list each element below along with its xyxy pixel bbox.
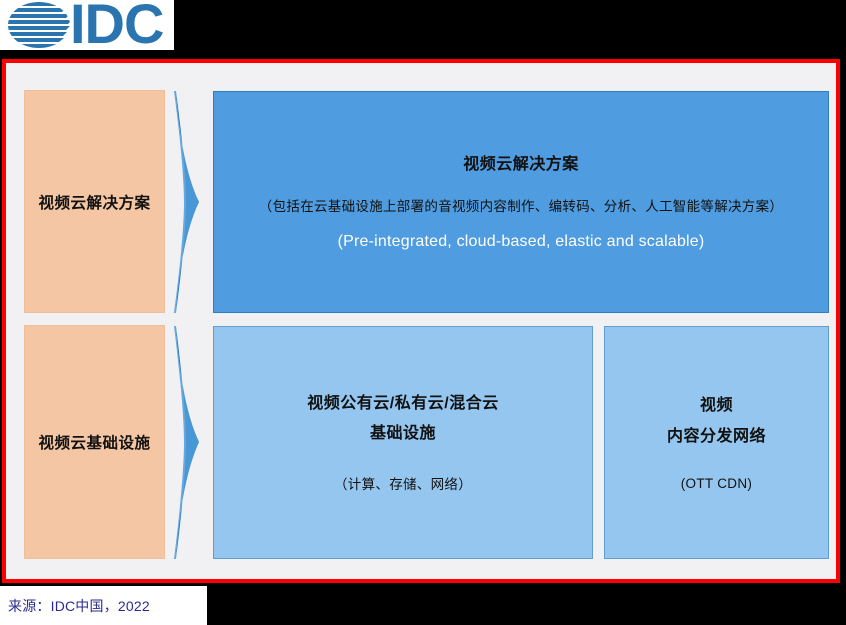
footer-band: 来源：IDC中国，2022 xyxy=(0,586,846,625)
infrastructure-cloud-title-line2: 基础设施 xyxy=(370,419,436,443)
infrastructure-cdn-detail: (OTT CDN) xyxy=(681,476,752,491)
idc-logo: IDC xyxy=(0,0,174,50)
right-crescent-arrow-icon xyxy=(173,326,207,559)
diagram-canvas: 视频云解决方案 视频云基础设施 视频云解决方案 （包括在云基础设施上部署的音视频… xyxy=(6,63,836,579)
solution-box: 视频云解决方案 （包括在云基础设施上部署的音视频内容制作、编转码、分析、人工智能… xyxy=(213,91,829,313)
idc-globe-icon xyxy=(6,1,72,49)
layer-label-solution-text: 视频云解决方案 xyxy=(38,191,150,213)
infrastructure-cloud-box: 视频公有云/私有云/混合云 基础设施 （计算、存储、网络） xyxy=(213,326,593,559)
solution-box-title: 视频云解决方案 xyxy=(463,153,579,176)
solution-box-subtitle-en: (Pre-integrated, cloud-based, elastic an… xyxy=(338,233,705,251)
infrastructure-cdn-title-line2: 内容分发网络 xyxy=(667,422,766,446)
infrastructure-cdn-title-line1: 视频 xyxy=(700,394,733,417)
right-crescent-arrow-icon xyxy=(173,91,207,313)
layer-label-solution: 视频云解决方案 xyxy=(24,90,165,313)
header-band: IDC xyxy=(0,0,846,58)
idc-wordmark: IDC xyxy=(70,0,163,50)
infrastructure-cloud-title-line1: 视频公有云/私有云/混合云 xyxy=(307,392,498,415)
infrastructure-cdn-box: 视频 内容分发网络 (OTT CDN) xyxy=(604,326,829,559)
layer-label-infrastructure-text: 视频云基础设施 xyxy=(38,431,150,453)
solution-box-subtitle-cn: （包括在云基础设施上部署的音视频内容制作、编转码、分析、人工智能等解决方案） xyxy=(259,198,783,217)
source-text: 来源：IDC中国，2022 xyxy=(8,596,150,616)
source-plate: 来源：IDC中国，2022 xyxy=(0,586,207,625)
layer-label-infrastructure: 视频云基础设施 xyxy=(24,325,165,559)
infrastructure-cloud-detail: （计算、存储、网络） xyxy=(334,473,472,493)
diagram-frame: 视频云解决方案 视频云基础设施 视频云解决方案 （包括在云基础设施上部署的音视频… xyxy=(2,59,840,583)
